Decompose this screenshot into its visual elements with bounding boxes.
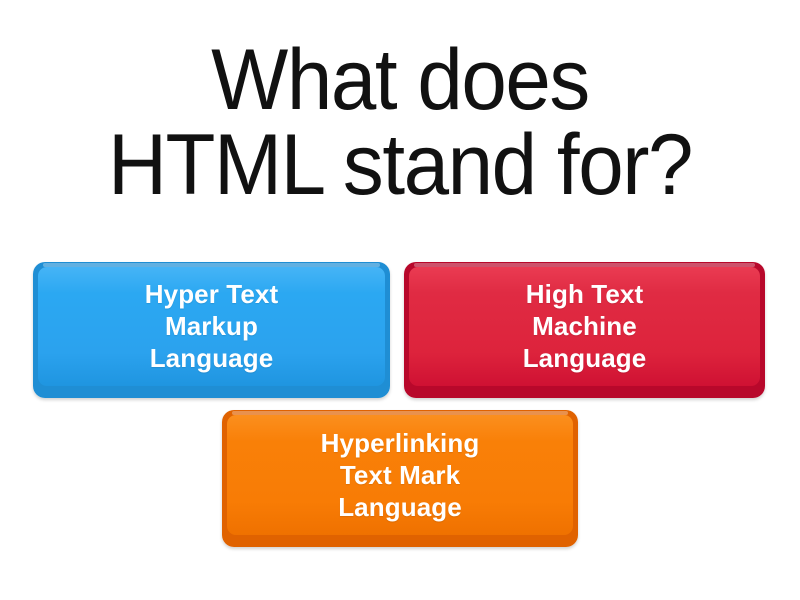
answer-sheen-blue (43, 263, 380, 267)
quiz-slide: What does HTML stand for? Hyper Text Mar… (0, 0, 800, 600)
answer-sheen-orange (232, 411, 568, 415)
answer-sheen-red (414, 263, 755, 267)
page-title: What does HTML stand for? (20, 38, 780, 208)
answer-label-blue: Hyper Text Markup Language (145, 278, 278, 382)
answer-label-orange: Hyperlinking Text Mark Language (321, 427, 480, 531)
answer-label-red: High Text Machine Language (523, 278, 647, 382)
answer-option-red[interactable]: High Text Machine Language (404, 262, 765, 398)
answer-option-orange[interactable]: Hyperlinking Text Mark Language (222, 410, 578, 547)
answer-option-blue[interactable]: Hyper Text Markup Language (33, 262, 390, 398)
question-area: What does HTML stand for? (0, 38, 800, 208)
